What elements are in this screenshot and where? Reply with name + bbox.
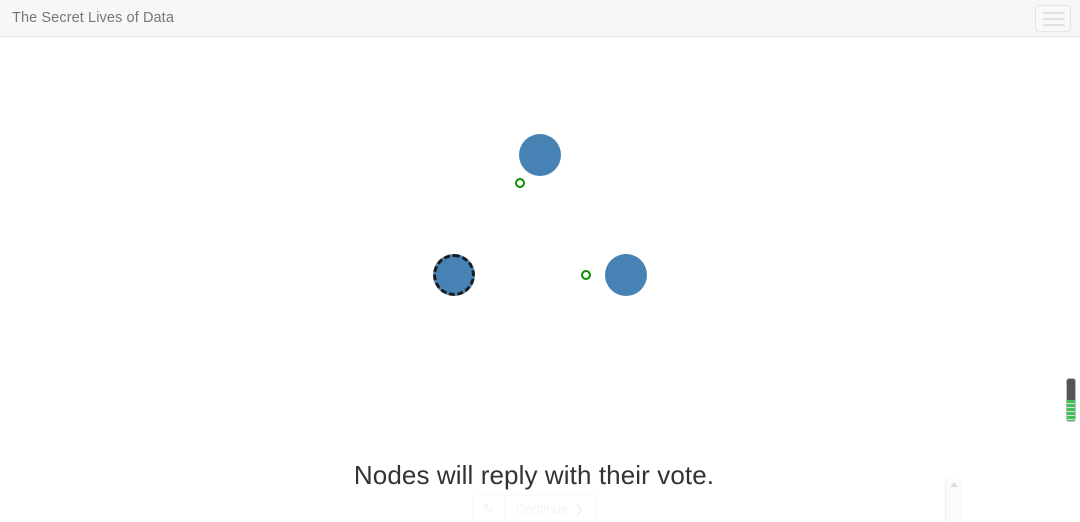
inner-scrollbar[interactable] xyxy=(945,479,962,522)
continue-button[interactable]: Continue ❯ xyxy=(504,495,596,522)
hamburger-bar-2 xyxy=(1043,18,1065,20)
chevron-right-icon: ❯ xyxy=(574,501,584,517)
navbar-inner: The Secret Lives of Data xyxy=(0,0,1080,36)
vote-message-to-top xyxy=(515,178,525,188)
playback-controls: ↻ Continue ❯ xyxy=(0,495,1068,522)
raft-node-right[interactable] xyxy=(605,254,647,296)
hamburger-bar-3 xyxy=(1043,24,1065,26)
app-root: The Secret Lives of Data Nodes will repl… xyxy=(0,0,1080,522)
control-button-group: ↻ Continue ❯ xyxy=(472,495,596,522)
scroll-up-arrow-icon[interactable] xyxy=(950,482,958,487)
term-progress-fill xyxy=(1067,400,1075,421)
raft-node-candidate-left[interactable] xyxy=(433,254,475,296)
restart-icon[interactable]: ↻ xyxy=(472,495,504,522)
visualization-caption: Nodes will reply with their vote. xyxy=(0,460,1068,491)
hamburger-bar-1 xyxy=(1043,12,1065,14)
raft-visualization-stage: Nodes will reply with their vote. ↻ Cont… xyxy=(0,37,1080,522)
raft-node-top[interactable] xyxy=(519,134,561,176)
hamburger-menu-icon[interactable] xyxy=(1035,5,1071,32)
vote-message-to-right xyxy=(581,270,591,280)
continue-button-label: Continue xyxy=(516,501,568,517)
site-brand-title[interactable]: The Secret Lives of Data xyxy=(12,10,174,26)
navbar: The Secret Lives of Data xyxy=(0,0,1080,37)
term-progress-indicator[interactable] xyxy=(1066,378,1076,422)
